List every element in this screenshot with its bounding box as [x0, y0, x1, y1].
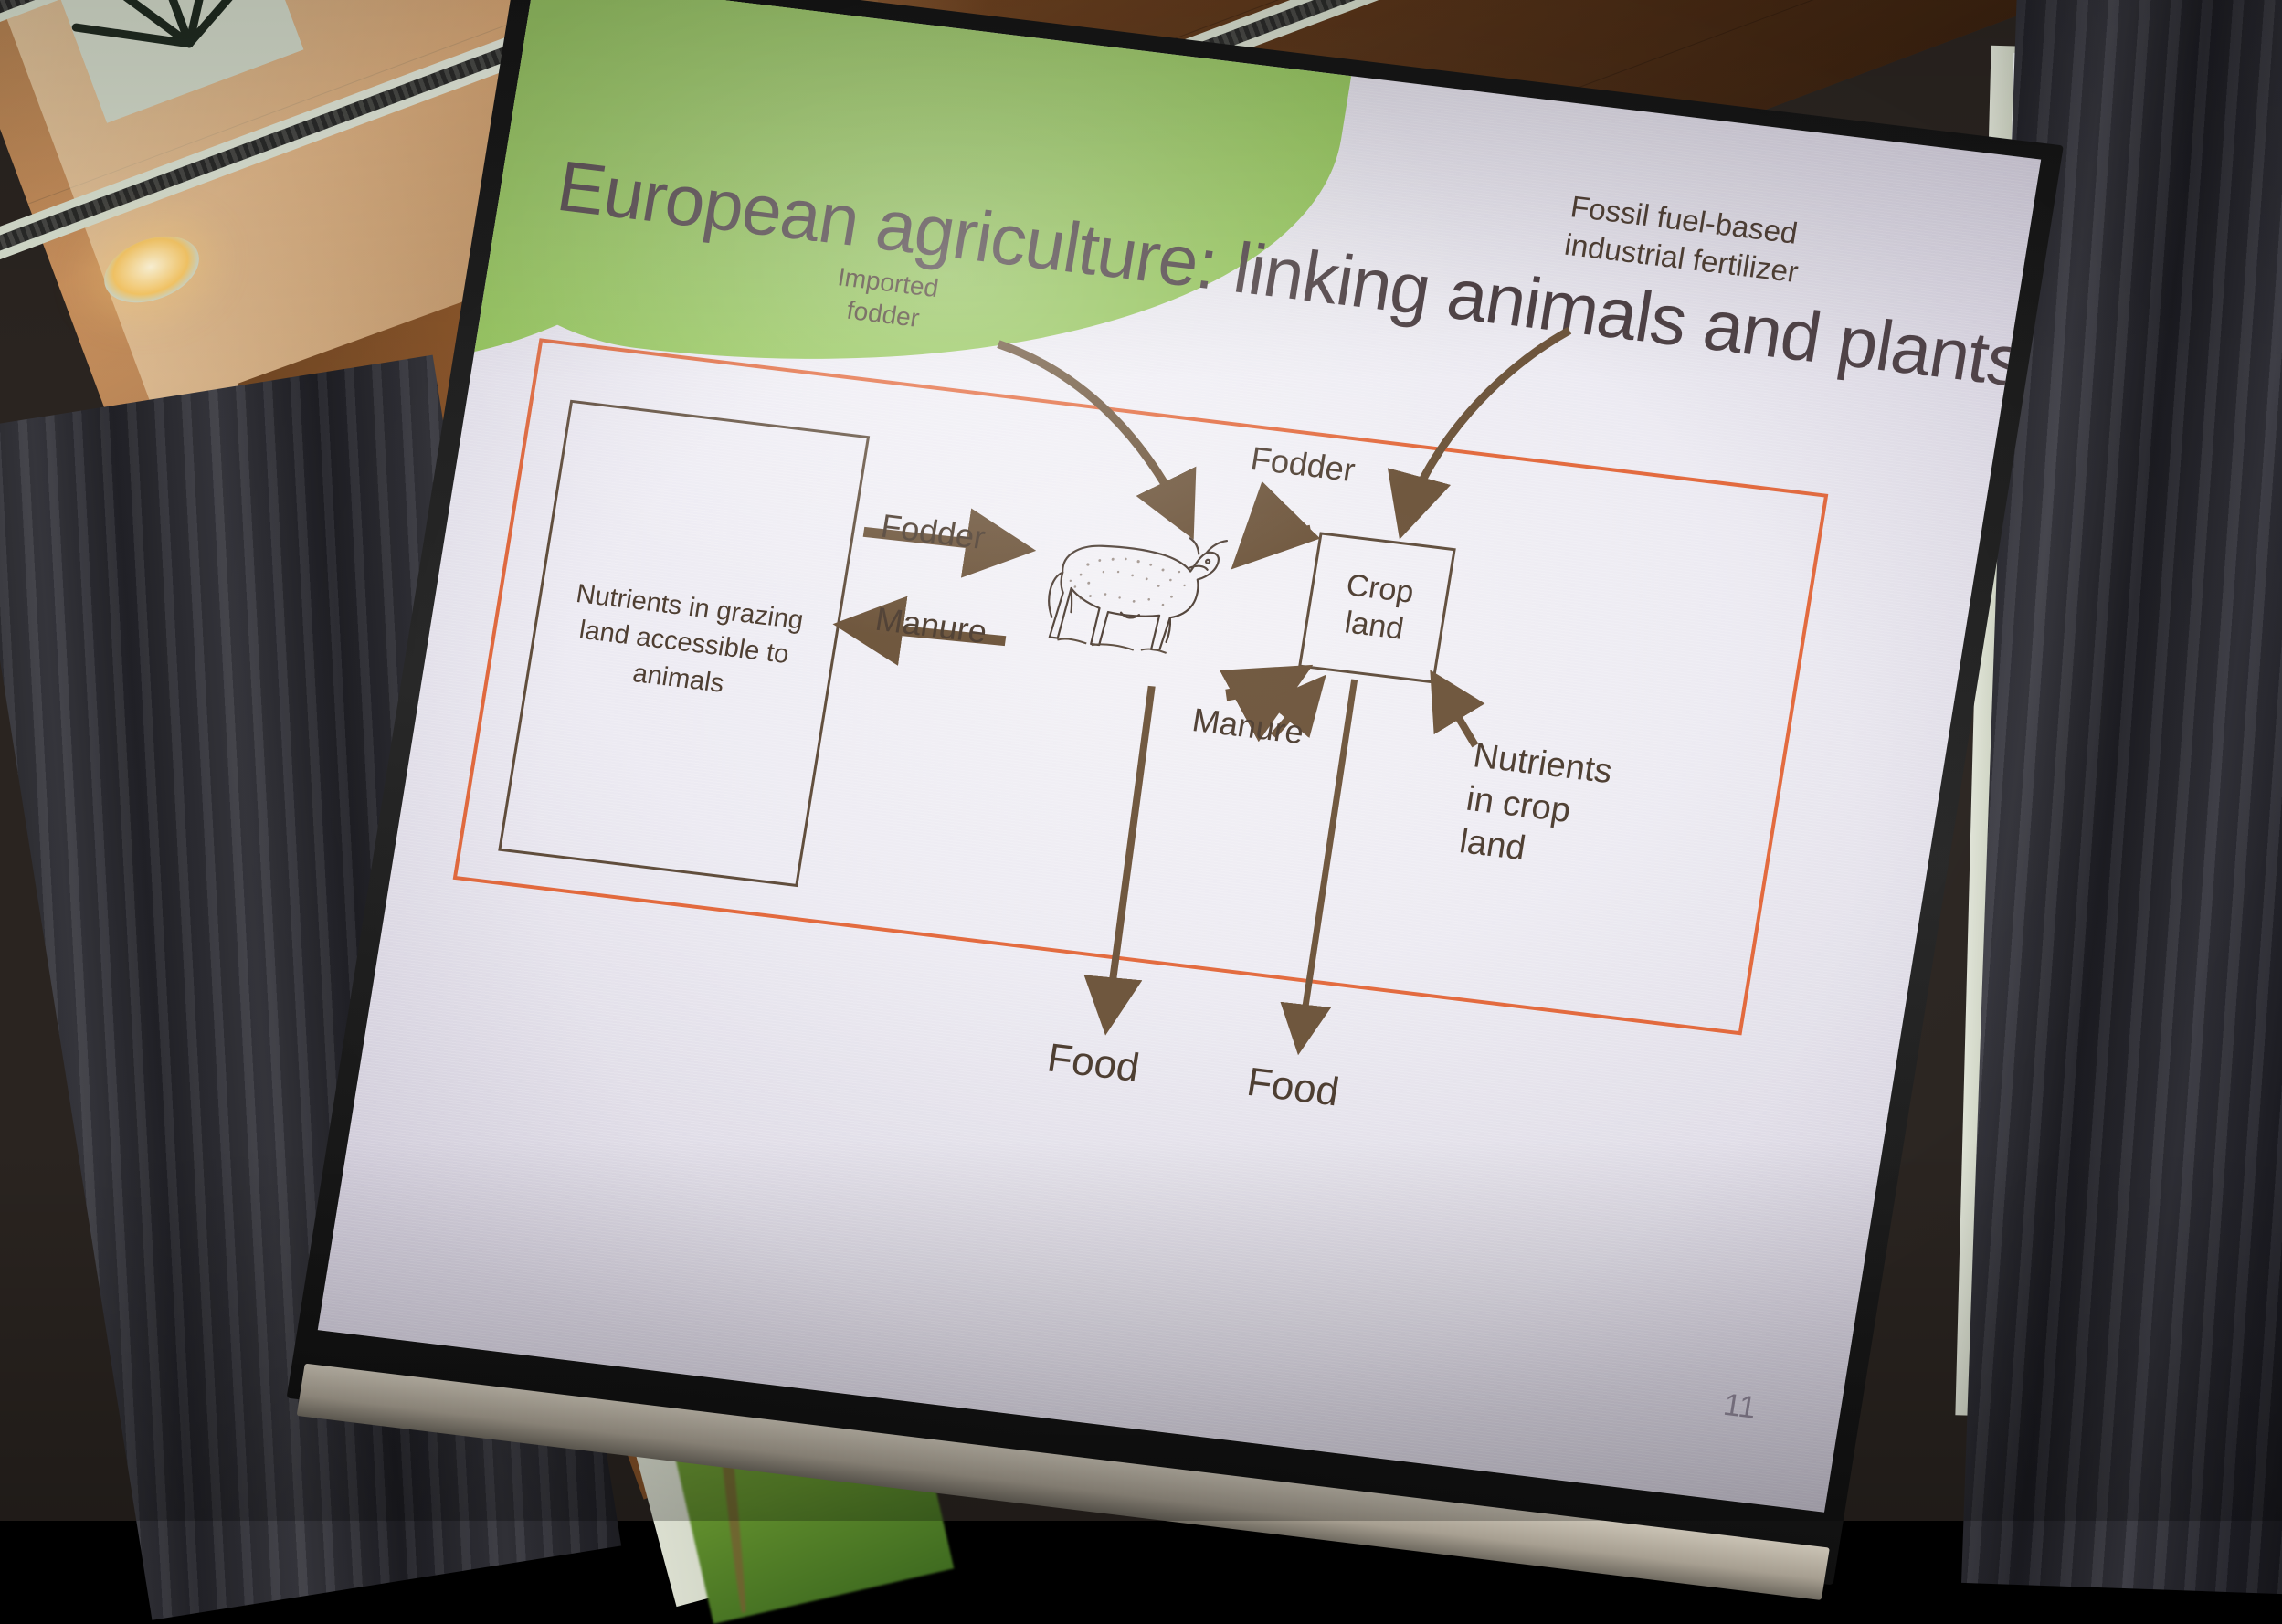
- cow-illustration-icon: [1017, 499, 1242, 685]
- conference-room: European agriculture: linking animals an…: [0, 0, 2282, 1521]
- label-fossil-fertilizer: Fossil fuel-based industrial fertilizer: [1562, 187, 1807, 291]
- label-food-right: Food: [1243, 1059, 1342, 1116]
- nutrients-crop-line-3: land: [1456, 820, 1601, 880]
- nutrients-crop-line-2: in crop: [1463, 777, 1609, 837]
- crop-line-2: land: [1337, 604, 1410, 649]
- nutrients-crop-line-1: Nutrients: [1470, 734, 1615, 794]
- node-crop-land: Crop land: [1298, 532, 1456, 683]
- crop-line-1: Crop: [1344, 567, 1417, 612]
- slide-page-number: 11: [1721, 1387, 1759, 1427]
- label-fodder-top: Fodder: [1248, 439, 1358, 490]
- curtain-right: [1961, 0, 2282, 1595]
- label-food-left: Food: [1044, 1035, 1143, 1092]
- label-manure-left: Manure: [872, 600, 989, 652]
- label-fodder-left: Fodder: [878, 507, 988, 558]
- fossil-fertilizer-line-1: Fossil fuel-based: [1568, 187, 1807, 254]
- fossil-fertilizer-line-2: industrial fertilizer: [1562, 226, 1801, 292]
- label-nutrients-crop-land: Nutrients in crop land: [1456, 734, 1615, 880]
- label-manure-bottom: Manure: [1189, 701, 1306, 753]
